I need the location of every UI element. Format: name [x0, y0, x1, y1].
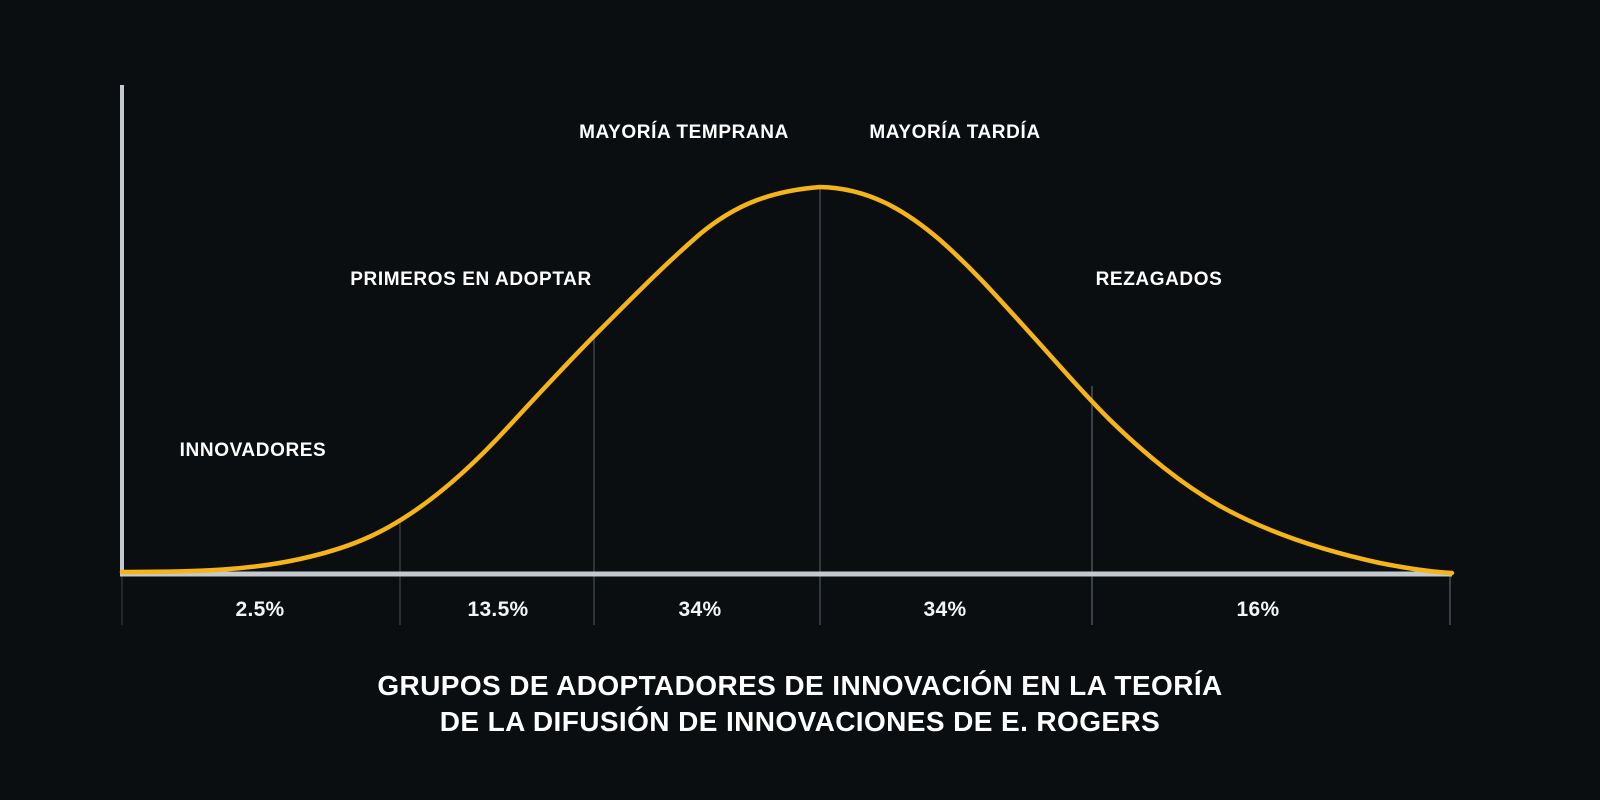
tick-label-innovadores: 2.5% [235, 598, 284, 622]
tick-label-rezagados: 16% [1237, 598, 1280, 622]
axis-lines [120, 85, 1452, 574]
segment-label-primeros-en-adoptar: PRIMEROS EN ADOPTAR [350, 269, 592, 291]
gridlines [122, 85, 1450, 625]
chart-title-line-2: DE LA DIFUSIÓN DE INNOVACIONES DE E. ROG… [0, 704, 1600, 740]
segment-label-mayoria-tardia: MAYORÍA TARDÍA [869, 122, 1040, 144]
tick-label-mayoria-tardia: 34% [924, 598, 967, 622]
bell-curve [122, 187, 1452, 573]
chart-title: GRUPOS DE ADOPTADORES DE INNOVACIÓN EN L… [0, 668, 1600, 740]
segment-label-innovadores: INNOVADORES [180, 440, 327, 462]
chart-title-line-1: GRUPOS DE ADOPTADORES DE INNOVACIÓN EN L… [0, 668, 1600, 704]
segment-label-mayoria-temprana: MAYORÍA TEMPRANA [579, 122, 789, 144]
segment-label-rezagados: REZAGADOS [1096, 269, 1223, 291]
tick-label-primeros-en-adoptar: 13.5% [467, 598, 528, 622]
tick-label-mayoria-temprana: 34% [679, 598, 722, 622]
chart-figure: INNOVADORES PRIMEROS EN ADOPTAR MAYORÍA … [0, 0, 1600, 800]
